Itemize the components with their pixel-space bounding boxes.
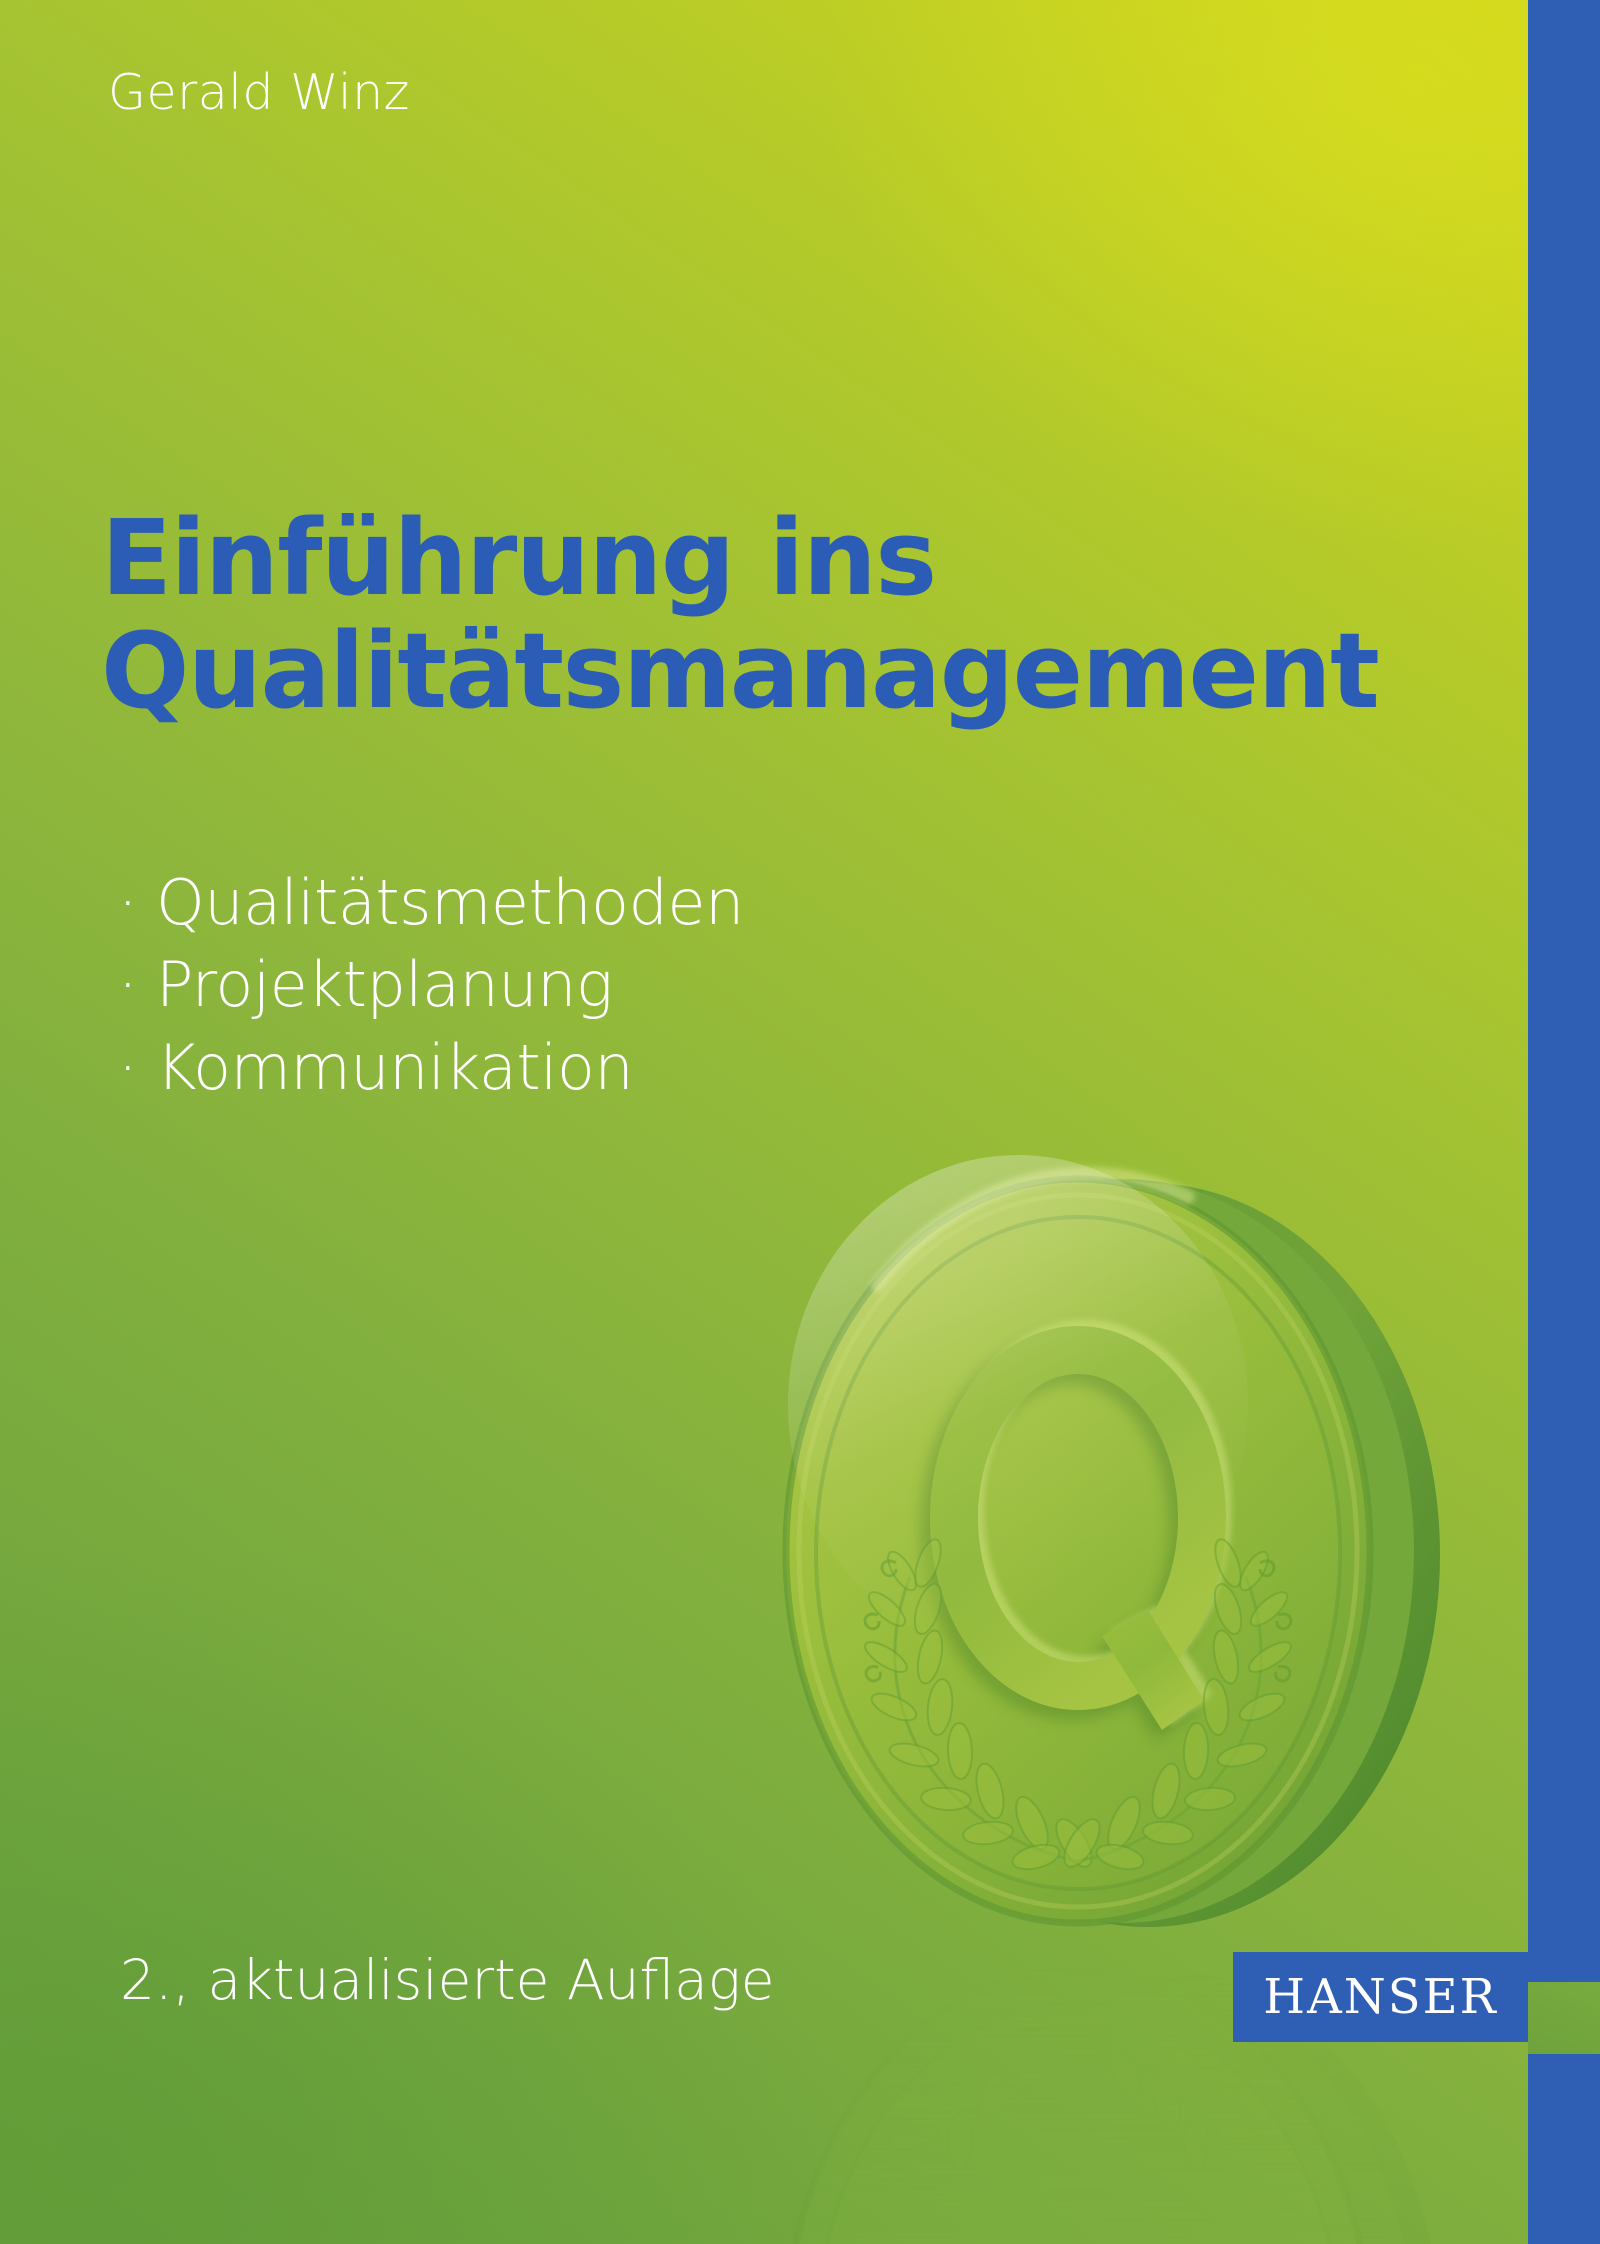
spine-bar	[1528, 0, 1600, 2244]
spine-notch	[1528, 1982, 1600, 2054]
title-line-1: Einführung ins	[101, 502, 1441, 615]
list-item-label: Qualitätsmethoden	[156, 862, 744, 944]
bullet-dot-icon: ·	[118, 944, 156, 1026]
list-item: · Kommunikation	[118, 1027, 744, 1109]
book-cover: Gerald Winz Einführung ins Qualitätsmana…	[0, 0, 1600, 2244]
list-item: · Projektplanung	[118, 944, 744, 1026]
feature-list: · Qualitätsmethoden · Projektplanung · K…	[118, 862, 744, 1109]
author-name: Gerald Winz	[108, 66, 410, 120]
title-line-2: Qualitätsmanagement	[101, 615, 1441, 728]
list-item: · Qualitätsmethoden	[118, 862, 744, 944]
book-title: Einführung ins Qualitätsmanagement	[101, 502, 1441, 729]
list-item-label: Kommunikation	[156, 1027, 633, 1109]
publisher-logo: HANSER	[1233, 1952, 1528, 2042]
publisher-name: HANSER	[1263, 1969, 1498, 2025]
coin-svg	[718, 1155, 1458, 1945]
list-item-label: Projektplanung	[156, 944, 613, 1026]
edition-statement: 2., aktualisierte Auflage	[120, 1948, 775, 2012]
quality-medal-coin-graphic	[718, 1155, 1458, 1945]
bullet-dot-icon: ·	[118, 862, 156, 944]
bullet-dot-icon: ·	[118, 1027, 156, 1109]
coin-gloss	[788, 1155, 1248, 1655]
